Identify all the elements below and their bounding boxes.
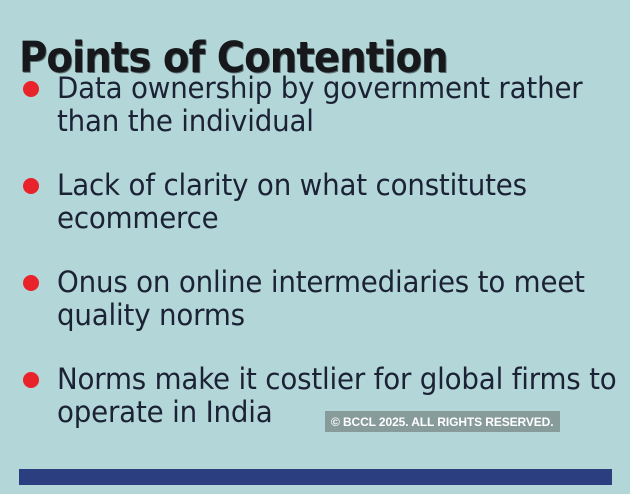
list-item: Lack of clarity on what constitutes ecom… (0, 169, 630, 266)
list-item: Onus on online intermediaries to meet qu… (0, 266, 630, 363)
list-item: Data ownership by government rather than… (0, 72, 630, 169)
bullet-icon (23, 81, 39, 97)
points-list: Data ownership by government rather than… (0, 72, 630, 460)
bullet-icon (23, 275, 39, 291)
list-item-label: Lack of clarity on what constitutes ecom… (57, 169, 630, 235)
infographic-card: Points of Contention Data ownership by g… (0, 0, 630, 494)
list-item-label: Data ownership by government rather than… (57, 72, 630, 138)
list-item-label: Onus on online intermediaries to meet qu… (57, 266, 630, 332)
copyright-watermark: © BCCL 2025. ALL RIGHTS RESERVED. (325, 411, 560, 432)
footer-accent-bar (19, 469, 612, 485)
bullet-icon (23, 372, 39, 388)
copyright-watermark-label: © BCCL 2025. ALL RIGHTS RESERVED. (331, 416, 554, 428)
bullet-icon (23, 178, 39, 194)
